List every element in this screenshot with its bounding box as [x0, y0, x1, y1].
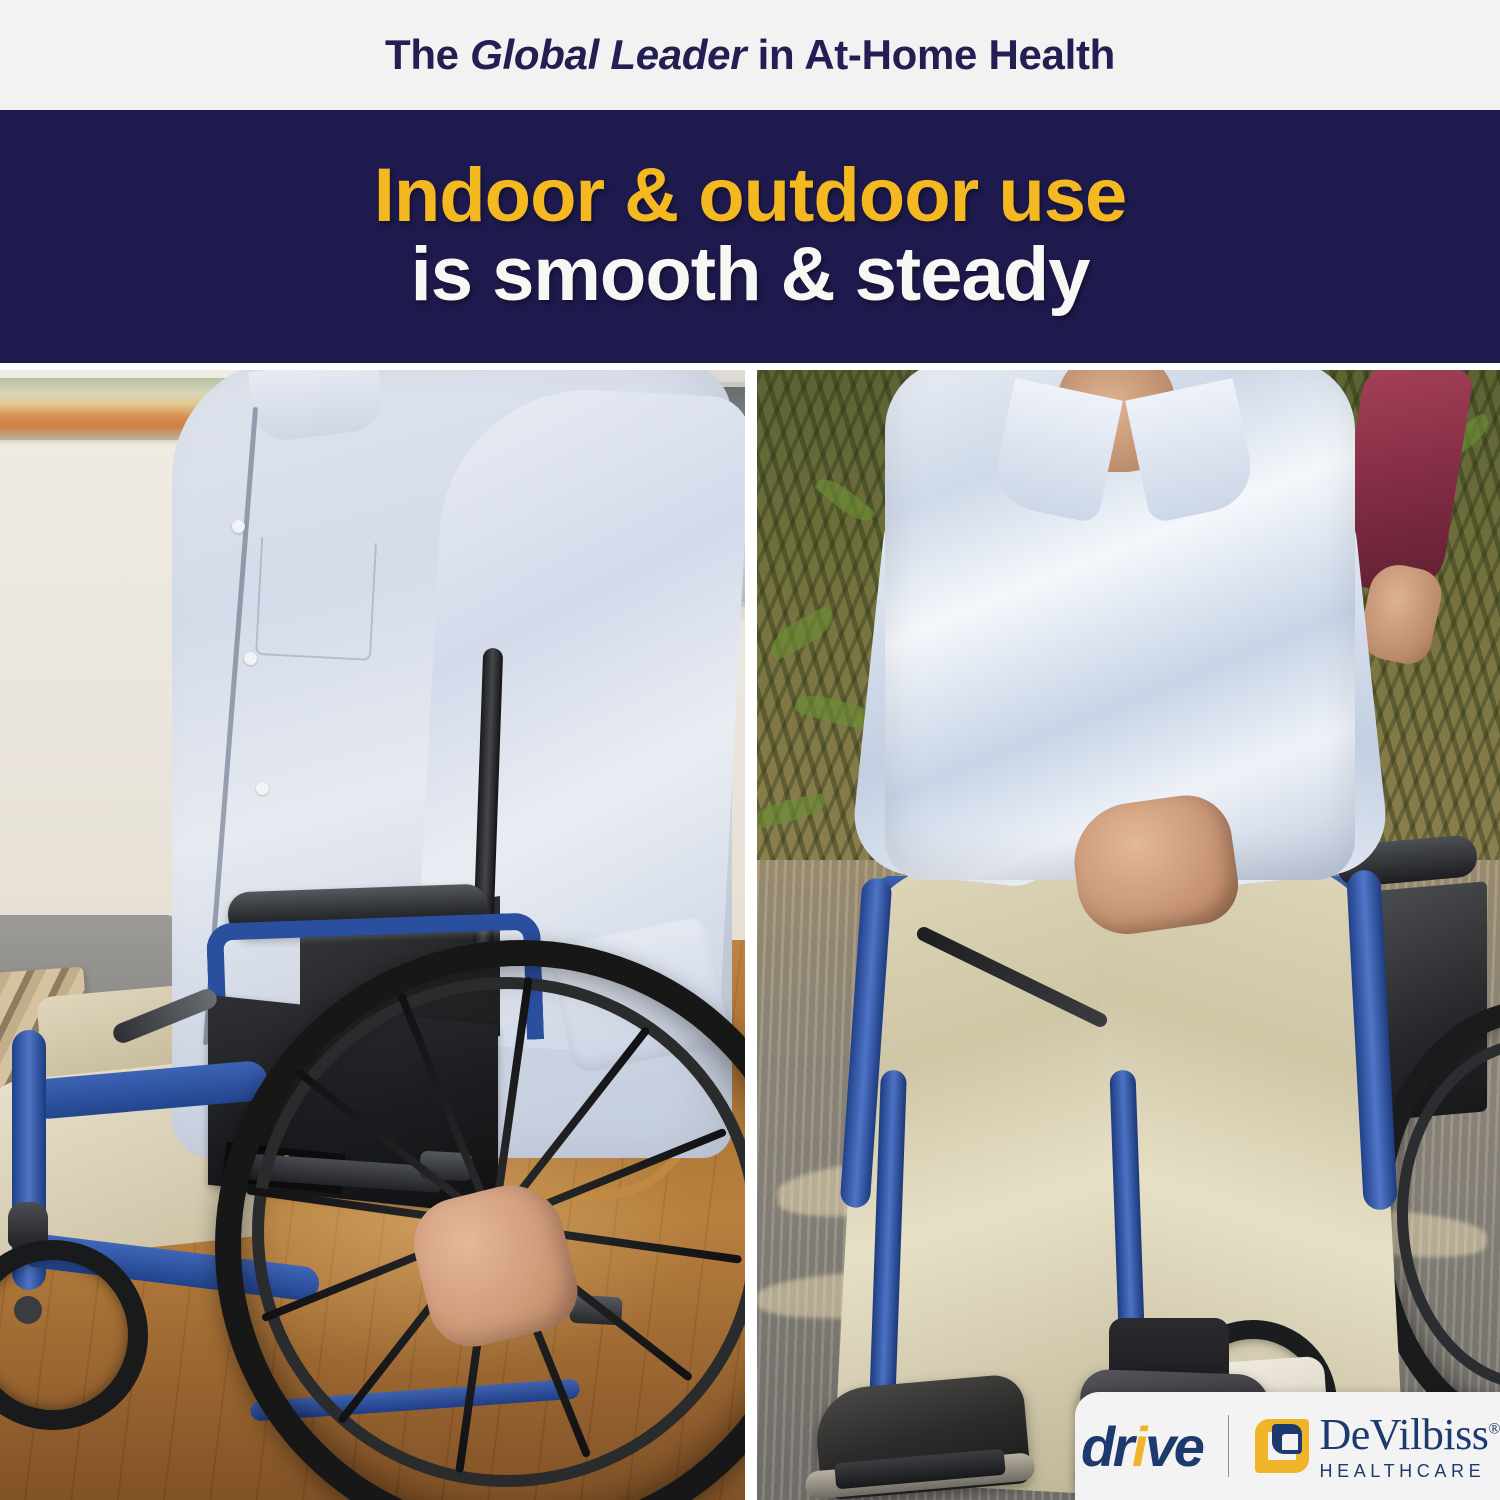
- registered-trademark: ®: [1488, 1420, 1500, 1437]
- marketing-graphic: The Global Leader in At-Home Health Indo…: [0, 0, 1500, 1500]
- photo-row: drive: [0, 370, 1500, 1500]
- tagline: The Global Leader in At-Home Health: [385, 31, 1115, 79]
- headline-line-2: is smooth & steady: [411, 234, 1090, 316]
- drive-logo: drive: [1081, 1414, 1202, 1479]
- devilbiss-name: DeVilbiss®: [1319, 1413, 1500, 1457]
- shirt-button: [244, 652, 257, 665]
- headline-band: Indoor & outdoor use is smooth & steady: [0, 110, 1500, 363]
- tagline-suffix: in At-Home Health: [746, 31, 1115, 78]
- tagline-strip: The Global Leader in At-Home Health: [0, 0, 1500, 110]
- devilbiss-mark-icon: [1255, 1419, 1309, 1473]
- photo-indoor-wheelchair: drive: [0, 370, 745, 1500]
- caster-hub: [14, 1296, 42, 1324]
- headline-line-1: Indoor & outdoor use: [374, 157, 1127, 235]
- devilbiss-subtitle: HEALTHCARE: [1319, 1462, 1500, 1480]
- photo-outdoor-wheelchair: [757, 370, 1500, 1500]
- brand-logo-badge: drive DeVilbiss® HEALTHCARE: [1075, 1392, 1500, 1500]
- shirt-button: [232, 520, 245, 533]
- shirt-button: [256, 782, 269, 795]
- devilbiss-logo: DeVilbiss® HEALTHCARE: [1255, 1413, 1500, 1480]
- person-shirt-pocket: [255, 537, 377, 661]
- tagline-prefix: The: [385, 31, 470, 78]
- tagline-emphasis: Global Leader: [470, 31, 746, 78]
- logo-divider: [1228, 1415, 1229, 1477]
